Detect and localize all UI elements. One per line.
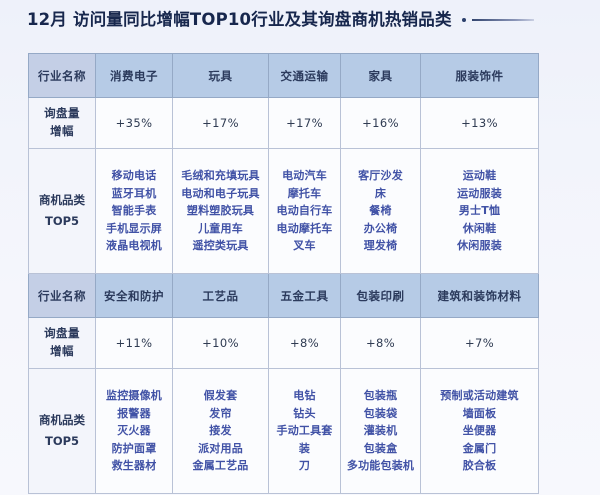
list-item: 塑料塑胶玩具 [175, 203, 266, 219]
list-item: 毛绒和充填玩具 [175, 168, 266, 184]
growth-value-2-2: +10% [173, 318, 269, 369]
top5-cell-1-3: 电动汽车 摩托车 电动自行车 电动摩托车 叉车 [269, 149, 341, 274]
list-item: 遥控类玩具 [175, 238, 266, 254]
header-label-industry-1: 行业名称 [29, 54, 96, 98]
page-root: 12月 访问量同比增幅TOP10行业及其询盘商机热销品类 行业名称 消费电子 玩… [0, 0, 600, 495]
growth-value-2-3: +8% [269, 318, 341, 369]
list-item: 多功能包装机 [343, 458, 418, 474]
top5-cell-2-3: 电钻 钻头 手动工具套 装 刀 [269, 369, 341, 494]
top5-list-2-2: 假发套 发帘 接发 派对用品 金属工艺品 [175, 388, 266, 474]
list-item: 儿童用车 [175, 221, 266, 237]
table-row-growth-1: 询盘量 增幅 +35% +17% +17% +16% +13% [29, 98, 539, 149]
top5-cell-2-4: 包装瓶 包装袋 灌装机 包装盒 多功能包装机 [341, 369, 421, 494]
growth-label-line1: 询盘量 [29, 325, 95, 343]
top5-cell-1-4: 客厅沙发 床 餐椅 办公椅 理发椅 [341, 149, 421, 274]
top5-cell-2-2: 假发套 发帘 接发 派对用品 金属工艺品 [173, 369, 269, 494]
table-row-growth-2: 询盘量 增幅 +11% +10% +8% +8% +7% [29, 318, 539, 369]
list-item: 防护面罩 [98, 441, 170, 457]
header-industry-2-5: 建筑和装饰材料 [421, 274, 539, 318]
list-item: 金属工艺品 [175, 458, 266, 474]
header-industry-1-5: 服装饰件 [421, 54, 539, 98]
list-item: 叉车 [271, 238, 338, 254]
list-item: 假发套 [175, 388, 266, 404]
growth-label-1: 询盘量 增幅 [29, 98, 96, 149]
header-label-industry-2: 行业名称 [29, 274, 96, 318]
top5-list-2-1: 监控摄像机 报警器 灭火器 防护面罩 救生器材 [98, 388, 170, 474]
list-item: 监控摄像机 [98, 388, 170, 404]
top5-list-2-4: 包装瓶 包装袋 灌装机 包装盒 多功能包装机 [343, 388, 418, 474]
list-item: 电动汽车 [271, 168, 338, 184]
list-item: 救生器材 [98, 458, 170, 474]
list-item: 运动鞋 [423, 168, 536, 184]
list-item: 接发 [175, 423, 266, 439]
list-item: 办公椅 [343, 221, 418, 237]
top5-label-line2: TOP5 [31, 211, 93, 232]
growth-value-1-4: +16% [341, 98, 421, 149]
table-row-header-2: 行业名称 安全和防护 工艺品 五金工具 包装印刷 建筑和装饰材料 [29, 274, 539, 318]
list-item: 客厅沙发 [343, 168, 418, 184]
list-item: 刀 [271, 458, 338, 474]
header-industry-1-2: 玩具 [173, 54, 269, 98]
top5-label-2: 商机品类 TOP5 [29, 369, 96, 494]
list-item: 男士T恤 [423, 203, 536, 219]
top5-list-2-3: 电钻 钻头 手动工具套 装 刀 [271, 388, 338, 474]
title-line-decoration [472, 19, 534, 21]
list-item: 智能手表 [98, 203, 170, 219]
top5-label-line1: 商机品类 [31, 190, 93, 211]
top5-label-line1: 商机品类 [31, 410, 93, 431]
growth-value-2-4: +8% [341, 318, 421, 369]
growth-label-line1: 询盘量 [29, 105, 95, 123]
list-item: 休闲服装 [423, 238, 536, 254]
header-industry-1-1: 消费电子 [96, 54, 173, 98]
list-item: 摩托车 [271, 186, 338, 202]
list-item: 发帘 [175, 406, 266, 422]
page-title: 12月 访问量同比增幅TOP10行业及其询盘商机热销品类 [27, 12, 534, 29]
list-item: 包装盒 [343, 441, 418, 457]
list-item: 电钻 [271, 388, 338, 404]
header-industry-2-4: 包装印刷 [341, 274, 421, 318]
top5-cell-1-5: 运动鞋 运动服装 男士T恤 休闲鞋 休闲服装 [421, 149, 539, 274]
list-item: 休闲鞋 [423, 221, 536, 237]
list-item: 钻头 [271, 406, 338, 422]
list-item: 运动服装 [423, 186, 536, 202]
header-industry-2-2: 工艺品 [173, 274, 269, 318]
growth-label-2: 询盘量 增幅 [29, 318, 96, 369]
list-item: 电动自行车 [271, 203, 338, 219]
header-industry-1-4: 家具 [341, 54, 421, 98]
list-item: 电动摩托车 [271, 221, 338, 237]
top5-cell-2-1: 监控摄像机 报警器 灭火器 防护面罩 救生器材 [96, 369, 173, 494]
list-item: 灭火器 [98, 423, 170, 439]
growth-value-1-5: +13% [421, 98, 539, 149]
list-item: 预制或活动建筑 [423, 388, 536, 404]
growth-value-1-3: +17% [269, 98, 341, 149]
list-item: 蓝牙耳机 [98, 186, 170, 202]
growth-value-1-1: +35% [96, 98, 173, 149]
list-item: 理发椅 [343, 238, 418, 254]
list-item: 装 [271, 441, 338, 457]
header-industry-2-3: 五金工具 [269, 274, 341, 318]
top5-cell-1-1: 移动电话 蓝牙耳机 智能手表 手机显示屏 液晶电视机 [96, 149, 173, 274]
growth-value-2-5: +7% [421, 318, 539, 369]
top5-cell-1-2: 毛绒和充填玩具 电动和电子玩具 塑料塑胶玩具 儿童用车 遥控类玩具 [173, 149, 269, 274]
list-item: 报警器 [98, 406, 170, 422]
page-title-text: 12月 访问量同比增幅TOP10行业及其询盘商机热销品类 [27, 12, 452, 29]
title-dot-decoration [462, 18, 466, 22]
list-item: 手动工具套 [271, 423, 338, 439]
table-row-header-1: 行业名称 消费电子 玩具 交通运输 家具 服装饰件 [29, 54, 539, 98]
top5-list-2-5: 预制或活动建筑 墙面板 坐便器 金属门 胶合板 [423, 388, 536, 474]
list-item: 包装袋 [343, 406, 418, 422]
list-item: 灌装机 [343, 423, 418, 439]
top5-label-line2: TOP5 [31, 431, 93, 452]
list-item: 胶合板 [423, 458, 536, 474]
header-industry-1-3: 交通运输 [269, 54, 341, 98]
top5-list-1-1: 移动电话 蓝牙耳机 智能手表 手机显示屏 液晶电视机 [98, 168, 170, 254]
growth-label-line2: 增幅 [29, 343, 95, 361]
list-item: 坐便器 [423, 423, 536, 439]
list-item: 电动和电子玩具 [175, 186, 266, 202]
top5-list-1-5: 运动鞋 运动服装 男士T恤 休闲鞋 休闲服装 [423, 168, 536, 254]
top5-label-1: 商机品类 TOP5 [29, 149, 96, 274]
list-item: 手机显示屏 [98, 221, 170, 237]
growth-value-1-2: +17% [173, 98, 269, 149]
list-item: 金属门 [423, 441, 536, 457]
list-item: 移动电话 [98, 168, 170, 184]
list-item: 餐椅 [343, 203, 418, 219]
growth-value-2-1: +11% [96, 318, 173, 369]
top5-list-1-2: 毛绒和充填玩具 电动和电子玩具 塑料塑胶玩具 儿童用车 遥控类玩具 [175, 168, 266, 254]
list-item: 派对用品 [175, 441, 266, 457]
top5-cell-2-5: 预制或活动建筑 墙面板 坐便器 金属门 胶合板 [421, 369, 539, 494]
industry-growth-table: 行业名称 消费电子 玩具 交通运输 家具 服装饰件 询盘量 增幅 +35% +1… [28, 53, 539, 494]
list-item: 床 [343, 186, 418, 202]
list-item: 墙面板 [423, 406, 536, 422]
list-item: 液晶电视机 [98, 238, 170, 254]
table-row-top5-2: 商机品类 TOP5 监控摄像机 报警器 灭火器 防护面罩 救生器材 假发套 [29, 369, 539, 494]
top5-list-1-4: 客厅沙发 床 餐椅 办公椅 理发椅 [343, 168, 418, 254]
table-row-top5-1: 商机品类 TOP5 移动电话 蓝牙耳机 智能手表 手机显示屏 液晶电视机 毛绒和… [29, 149, 539, 274]
growth-label-line2: 增幅 [29, 123, 95, 141]
list-item: 包装瓶 [343, 388, 418, 404]
top5-list-1-3: 电动汽车 摩托车 电动自行车 电动摩托车 叉车 [271, 168, 338, 254]
header-industry-2-1: 安全和防护 [96, 274, 173, 318]
